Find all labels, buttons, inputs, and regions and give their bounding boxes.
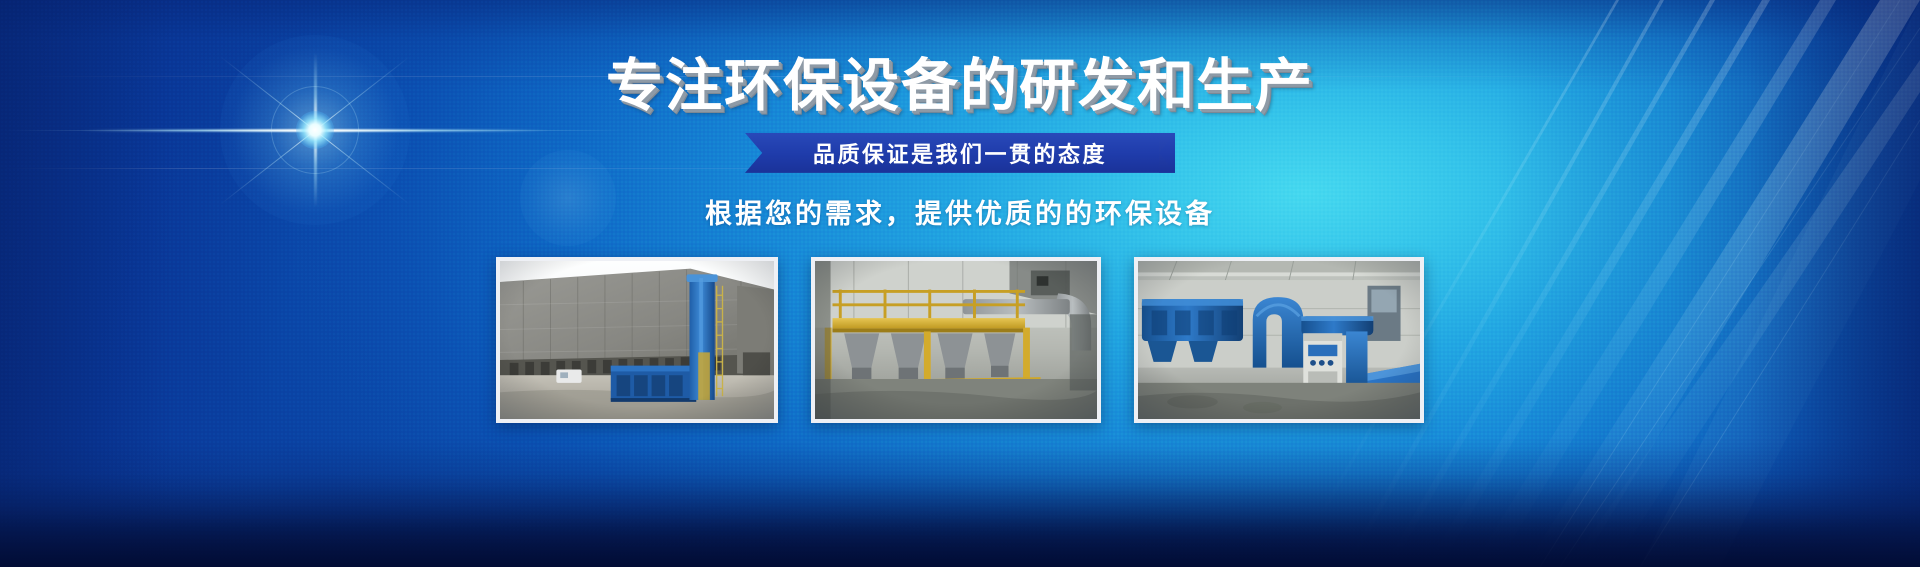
photo-2-scene xyxy=(815,261,1097,419)
ribbon-label: 品质保证是我们一贯的态度 xyxy=(813,137,1107,169)
page-subtitle: 根据您的需求，提供优质的的环保设备 xyxy=(705,192,1215,231)
page-title: 专注环保设备的研发和生产 xyxy=(606,57,1314,117)
promo-banner: 专注环保设备的研发和生产 品质保证是我们一贯的态度 根据您的需求，提供优质的的环… xyxy=(0,0,1920,567)
photo-thumbnail-3[interactable] xyxy=(1134,257,1424,423)
photo-3-scene xyxy=(1138,261,1420,419)
photo-thumbnail-2[interactable] xyxy=(811,257,1101,423)
photo-strip xyxy=(496,257,1424,423)
photo-1-scene xyxy=(500,261,774,419)
quality-ribbon: 品质保证是我们一贯的态度 xyxy=(745,133,1175,173)
photo-thumbnail-1[interactable] xyxy=(496,257,778,423)
banner-content: 专注环保设备的研发和生产 品质保证是我们一贯的态度 根据您的需求，提供优质的的环… xyxy=(0,0,1920,567)
